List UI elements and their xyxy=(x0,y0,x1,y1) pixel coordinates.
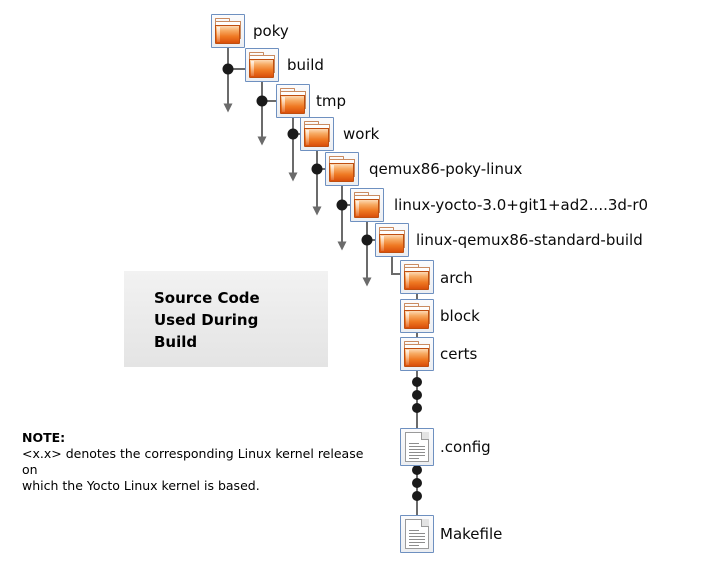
folder-icon xyxy=(276,84,310,118)
tree-node-label: arch xyxy=(440,269,473,287)
tree-node-label: linux-yocto-3.0+git1+ad2....3d-r0 xyxy=(394,196,648,214)
tree-node-label: linux-qemux86-standard-build xyxy=(416,231,643,249)
diagram-canvas: poky build tmp work qemux86-poky-linux l… xyxy=(0,0,705,581)
folder-icon xyxy=(400,337,434,371)
folder-icon xyxy=(375,223,409,257)
folder-icon xyxy=(245,48,279,82)
document-icon xyxy=(400,515,434,553)
source-code-callout-box: Source Code Used During Build xyxy=(124,271,328,367)
folder-icon xyxy=(400,299,434,333)
tree-node-label: build xyxy=(287,56,324,74)
note-block: NOTE: <x.x> denotes the corresponding Li… xyxy=(22,430,382,494)
tree-node-label: Makefile xyxy=(440,525,502,543)
tree-node-label: block xyxy=(440,307,480,325)
note-title: NOTE: xyxy=(22,430,382,446)
tree-node-label: work xyxy=(343,125,379,143)
tree-node-label: qemux86-poky-linux xyxy=(369,160,522,178)
note-body: <x.x> denotes the corresponding Linux ke… xyxy=(22,446,382,494)
folder-icon xyxy=(400,260,434,294)
tree-node-label: tmp xyxy=(316,92,346,110)
tree-node-label: poky xyxy=(253,22,289,40)
folder-icon xyxy=(300,117,334,151)
folder-icon xyxy=(350,188,384,222)
folder-icon xyxy=(325,152,359,186)
document-icon xyxy=(400,428,434,466)
folder-icon xyxy=(211,14,245,48)
callout-text: Source Code Used During Build xyxy=(154,287,260,353)
tree-node-label: certs xyxy=(440,345,477,363)
tree-node-label: .config xyxy=(440,438,491,456)
